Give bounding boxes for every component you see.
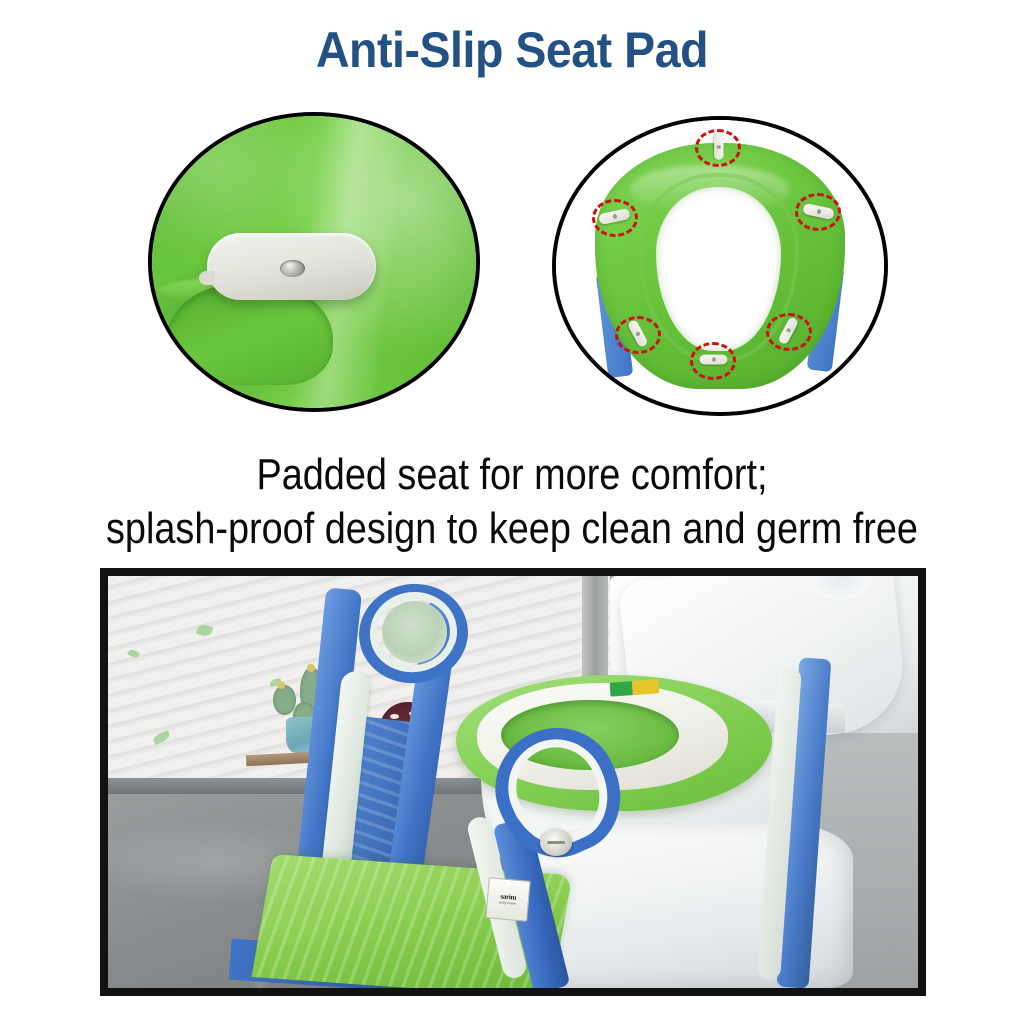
pad-highlight-top [695,129,741,167]
inset-anti-slip-pad-closeup [148,112,480,412]
pad-highlight-left [592,199,638,237]
page-title: Anti-Slip Seat Pad [36,24,988,77]
inset-pad-locations-overview [552,116,888,416]
lifestyle-photo: sarim potty trainer [100,568,926,996]
red-dashed-circle-icon [695,129,741,167]
pad-screw-icon [280,260,305,277]
caption-block: Padded seat for more comfort; splash-pro… [72,448,953,555]
red-dashed-circle-icon [615,316,661,354]
pad-tab [199,271,215,286]
adjustment-knob [540,829,572,856]
cactus-bloom [277,681,285,688]
red-dashed-circle-icon [592,199,638,237]
red-dashed-circle-icon [766,313,812,351]
red-dashed-circle-icon [690,342,736,380]
red-dashed-circle-icon [795,193,841,231]
cactus-bloom [307,664,315,671]
ladder-handle-opening [382,601,447,663]
caption-line-2: splash-proof design to keep clean and ge… [72,502,953,556]
caption-line-1: Padded seat for more comfort; [256,450,767,499]
mushroom-spot [390,714,400,719]
pad-highlight-right [795,193,841,231]
seat-well [165,285,333,384]
pad-highlight-bottom-right [766,313,812,351]
photo-content: sarim potty trainer [108,576,918,988]
brand-subtext: potty trainer [499,901,516,906]
pad-highlight-bottom-left [615,316,661,354]
anti-slip-pad [207,233,375,300]
toilet-lid-inner [810,576,874,602]
brand-label: sarim potty trainer [485,877,531,922]
pad-highlight-bottom [690,342,736,380]
